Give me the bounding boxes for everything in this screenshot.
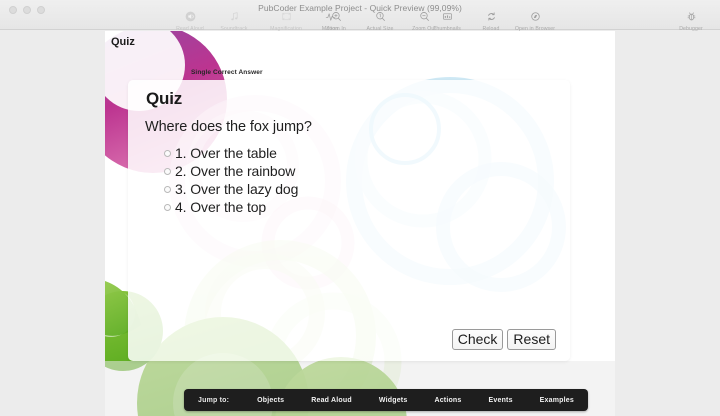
quiz-title: Quiz [146,89,182,109]
preview-toolbar: Read Aloud Soundtrack [0,8,720,30]
toolbar-group-audio: Read Aloud Soundtrack [168,8,256,32]
radio-button-icon[interactable] [164,168,171,175]
toolbar-button-open-in-browser[interactable]: Open in Browser [513,8,557,32]
radio-button-icon[interactable] [164,186,171,193]
toolbar-button-magnification[interactable]: Magnification [264,8,308,32]
jump-link-actions[interactable]: Actions [434,397,461,404]
jump-to-label: Jump to: [198,397,229,404]
quiz-card-buttons: Check Reset [452,329,556,350]
jump-link-events[interactable]: Events [489,397,513,404]
quiz-answer-option[interactable]: 3. Over the lazy dog [164,180,298,198]
toolbar-button-debugger[interactable]: Debugger [669,8,713,32]
quiz-type-caption: Single Correct Answer [191,69,263,76]
page-canvas: Quiz Single Correct Answer Quiz Where do… [105,31,615,416]
jump-link-widgets[interactable]: Widgets [379,397,408,404]
jump-link-read-aloud[interactable]: Read Aloud [311,397,352,404]
radio-button-icon[interactable] [164,204,171,211]
thumbnails-icon [441,8,454,24]
window-titlebar: PubCoder Example Project - Quick Preview… [0,0,720,30]
quiz-answer-label: 1. Over the table [175,145,277,161]
jump-to-navigation-bar: Jump to: Objects Read Aloud Widgets Acti… [184,389,588,411]
preview-window: PubCoder Example Project - Quick Preview… [0,0,720,416]
toolbar-label-debugger: Debugger [679,26,703,32]
quiz-card: Quiz Where does the fox jump? 1. Over th… [128,80,570,361]
zoom-in-icon [330,8,343,24]
jump-link-objects[interactable]: Objects [257,397,284,404]
jump-link-examples[interactable]: Examples [540,397,574,404]
check-button[interactable]: Check [452,329,504,350]
quiz-answer-option[interactable]: 1. Over the table [164,144,298,162]
toolbar-button-soundtrack[interactable]: Soundtrack [212,8,256,32]
magnification-icon [280,8,293,24]
actual-size-icon [374,8,387,24]
toolbar-button-reload[interactable]: Reload [469,8,513,32]
quiz-answer-option[interactable]: 2. Over the rainbow [164,162,298,180]
reset-button[interactable]: Reset [507,329,556,350]
compass-icon [529,8,542,24]
quiz-answer-label: 3. Over the lazy dog [175,181,298,197]
speaker-icon [184,8,197,24]
page-tab-label: Quiz [105,34,141,50]
toolbar-group-navigation: Thumbnails Reload [425,8,557,32]
reload-icon [485,8,498,24]
toolbar-group-debug: Debugger [669,8,713,32]
radio-button-icon[interactable] [164,150,171,157]
quiz-answer-label: 4. Over the top [175,199,266,215]
toolbar-button-zoom-in[interactable]: Zoom In [314,8,358,32]
quiz-answer-option[interactable]: 4. Over the top [164,198,298,216]
quiz-answer-list: 1. Over the table 2. Over the rainbow 3.… [164,144,298,216]
toolbar-button-read-aloud[interactable]: Read Aloud [168,8,212,32]
quiz-answer-label: 2. Over the rainbow [175,163,295,179]
quiz-question: Where does the fox jump? [145,119,312,135]
music-note-icon [228,8,241,24]
toolbar-button-actual-size[interactable]: Actual Size [358,8,402,32]
toolbar-button-thumbnails[interactable]: Thumbnails [425,8,469,32]
bug-icon [685,8,698,24]
